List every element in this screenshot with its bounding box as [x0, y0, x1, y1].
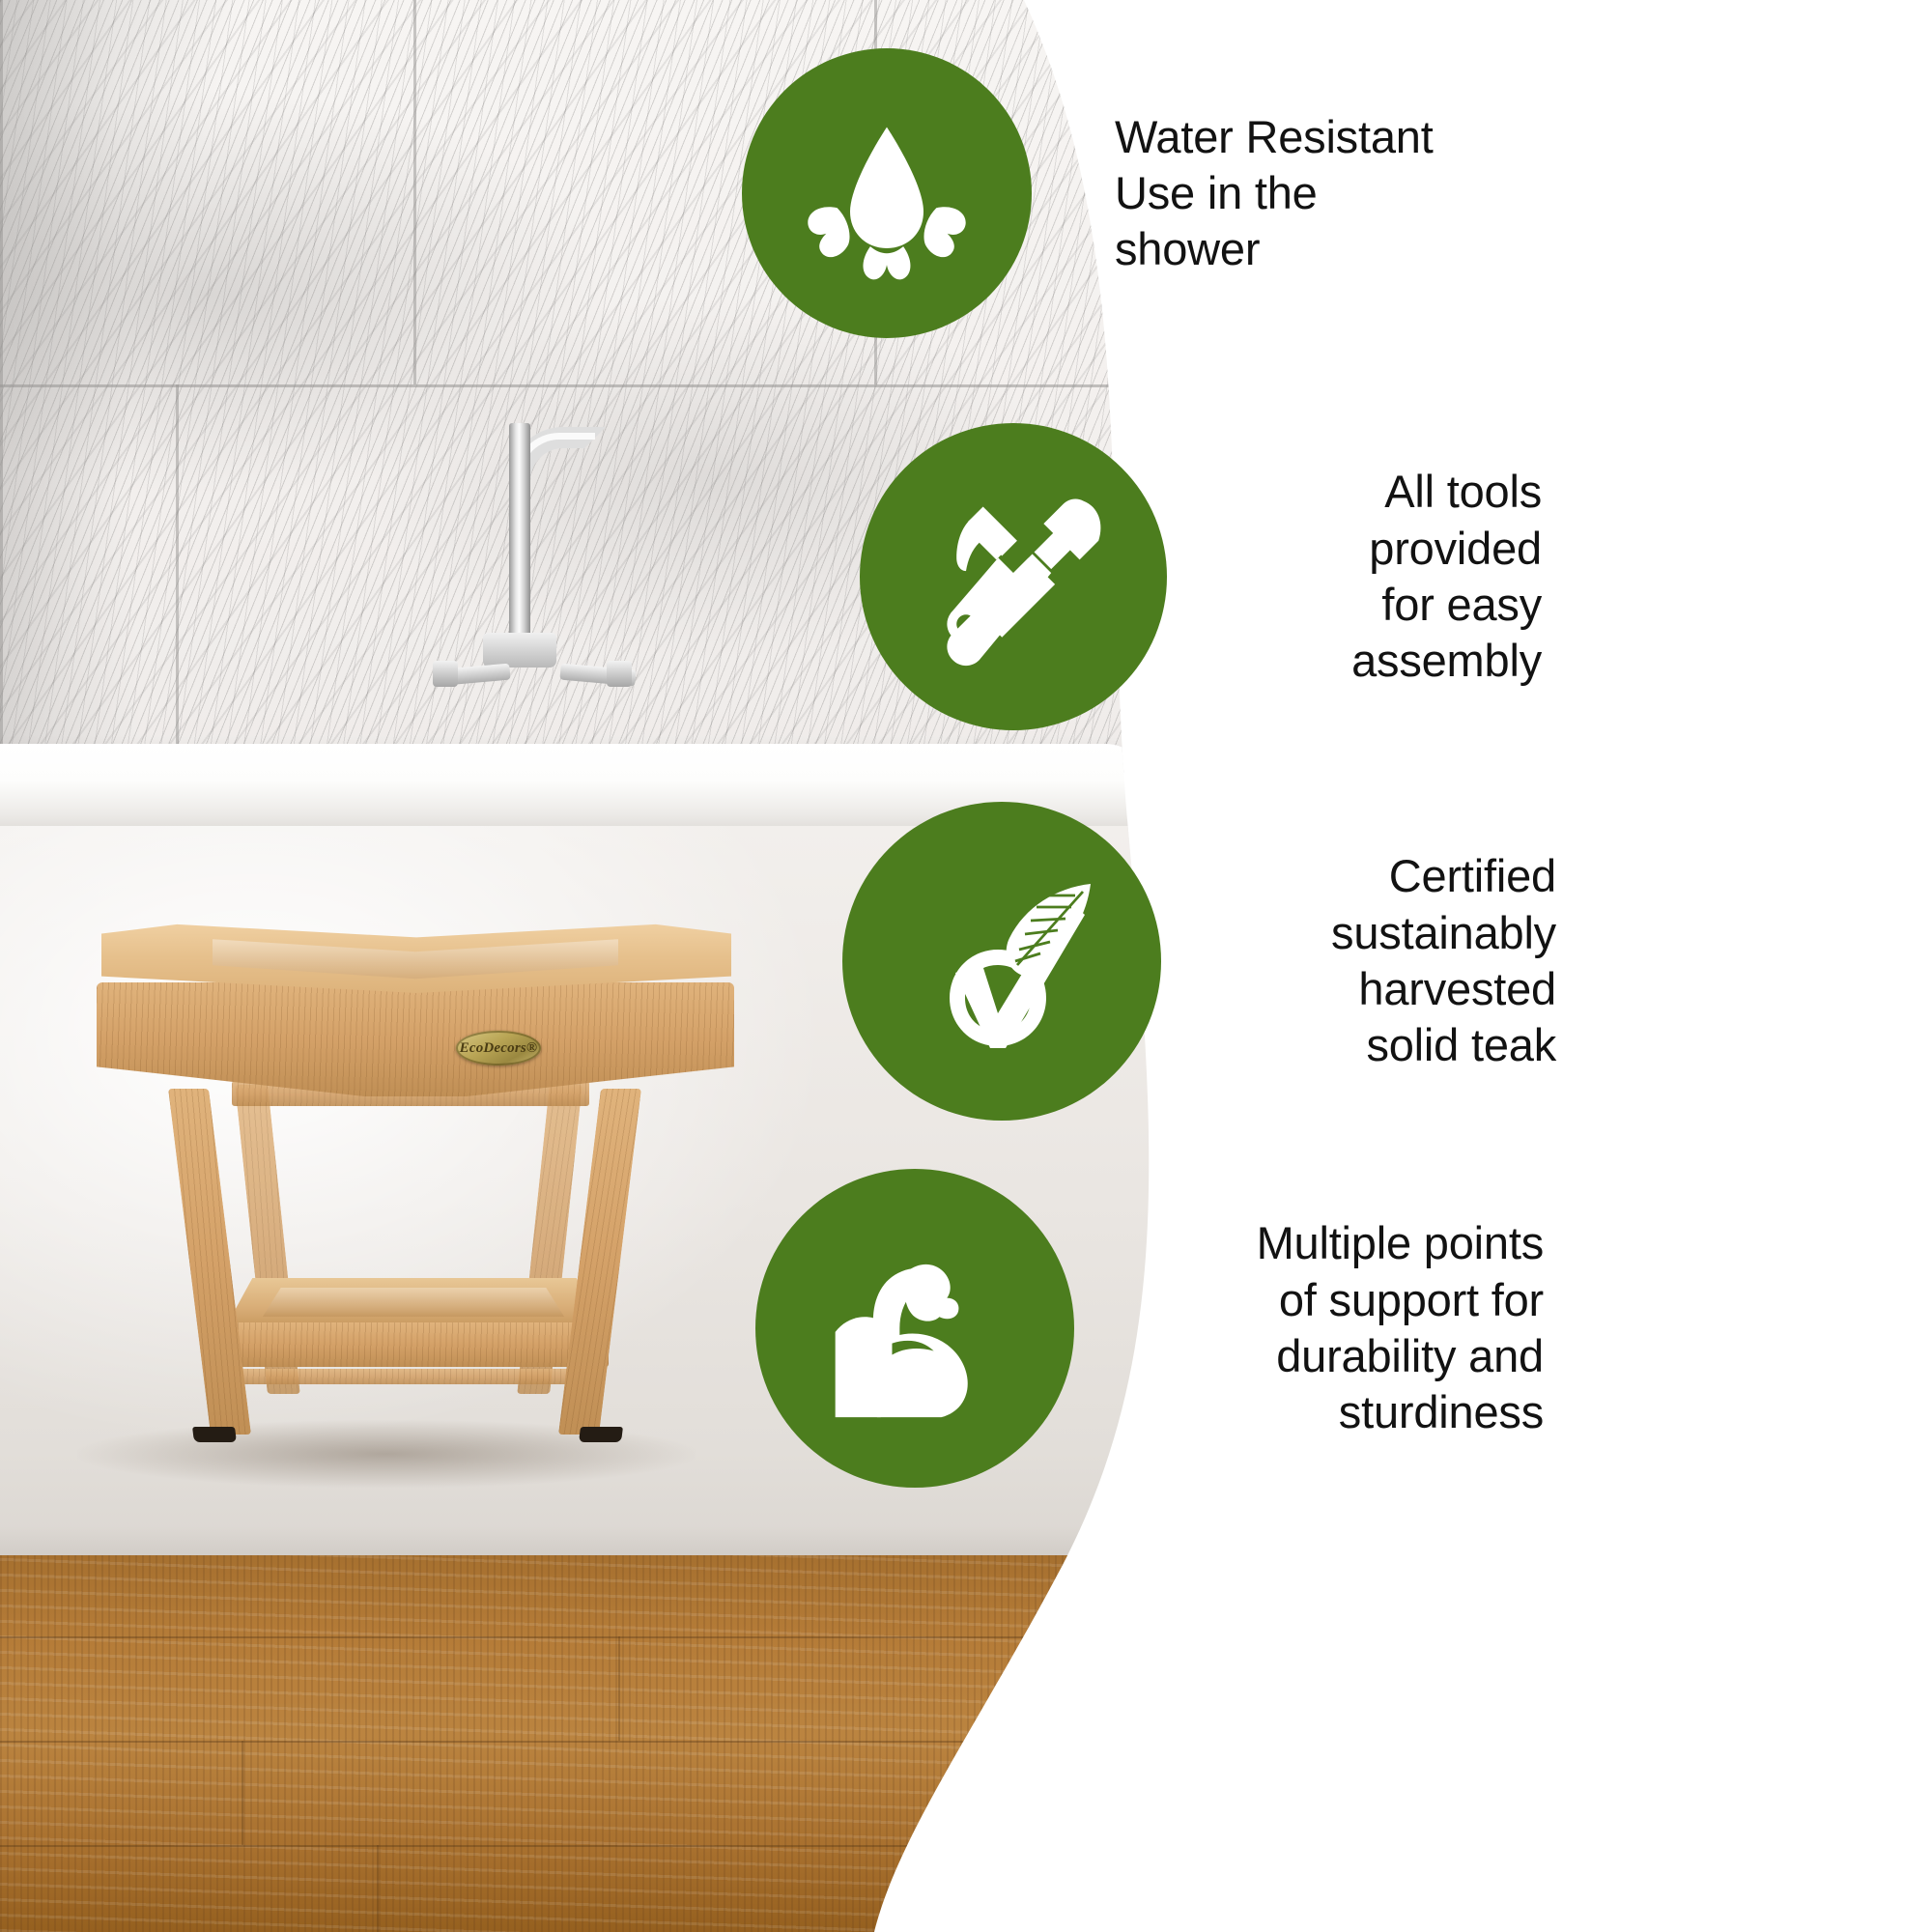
tile-grout-line — [0, 0, 3, 773]
flexed-bicep-icon — [820, 1234, 1009, 1423]
feature-icon-circle — [755, 1169, 1074, 1488]
feature-certified-teak: Certified sustainably harvested solid te… — [842, 802, 1556, 1121]
stool-shelf-front — [220, 1322, 609, 1367]
stool-seat-apron — [97, 982, 734, 1096]
stool-shelf-inlay — [263, 1288, 564, 1317]
feature-label: Water Resistant Use in the shower — [1115, 109, 1492, 278]
faucet-spout — [509, 423, 530, 645]
leaf-checkmark-icon — [905, 865, 1098, 1058]
floor-plank-seam — [0, 1636, 1150, 1638]
feature-label: All tools provided for easy assembly — [1223, 464, 1542, 689]
brand-badge-label: EcoDecors® — [460, 1040, 538, 1057]
feature-water-resistant: Water Resistant Use in the shower — [742, 48, 1492, 338]
faucet-base — [483, 633, 556, 668]
water-drop-splash-icon — [795, 101, 979, 285]
feature-icon-circle — [742, 48, 1032, 338]
feature-tools-included: All tools provided for easy assembly — [860, 423, 1542, 730]
floor-plank-seam — [0, 1845, 1150, 1847]
feature-label: Multiple points of support for durabilit… — [1128, 1215, 1544, 1440]
faucet-knob-left — [433, 661, 458, 687]
tile-grout-line — [0, 384, 1150, 387]
wood-floor — [0, 1555, 1150, 1932]
stool-leg-front-left — [168, 1089, 251, 1435]
stool-foot-left — [192, 1427, 237, 1442]
stool-shelf-rail — [224, 1369, 605, 1384]
floor-plank-seam — [241, 1741, 243, 1845]
hammer-wrench-icon — [919, 482, 1108, 671]
faucet-knob-right — [607, 661, 632, 687]
floor-plank-seam — [618, 1636, 620, 1741]
ecodecors-brand-badge: EcoDecors® — [456, 1031, 541, 1065]
product-feature-infographic: EcoDecors® Water Resistant Use in the sh… — [0, 0, 1932, 1932]
feature-icon-circle — [860, 423, 1167, 730]
tile-grout-line — [413, 0, 416, 384]
feature-icon-circle — [842, 802, 1161, 1121]
feature-multiple-support-points: Multiple points of support for durabilit… — [755, 1169, 1544, 1488]
floor-plank-seam — [0, 1741, 1150, 1743]
feature-label: Certified sustainably harvested solid te… — [1213, 848, 1556, 1073]
tile-grout-line — [176, 384, 179, 773]
floor-plank-seam — [377, 1845, 379, 1932]
stool-foot-right — [579, 1427, 623, 1442]
teak-shower-stool: EcoDecors® — [97, 923, 773, 1463]
